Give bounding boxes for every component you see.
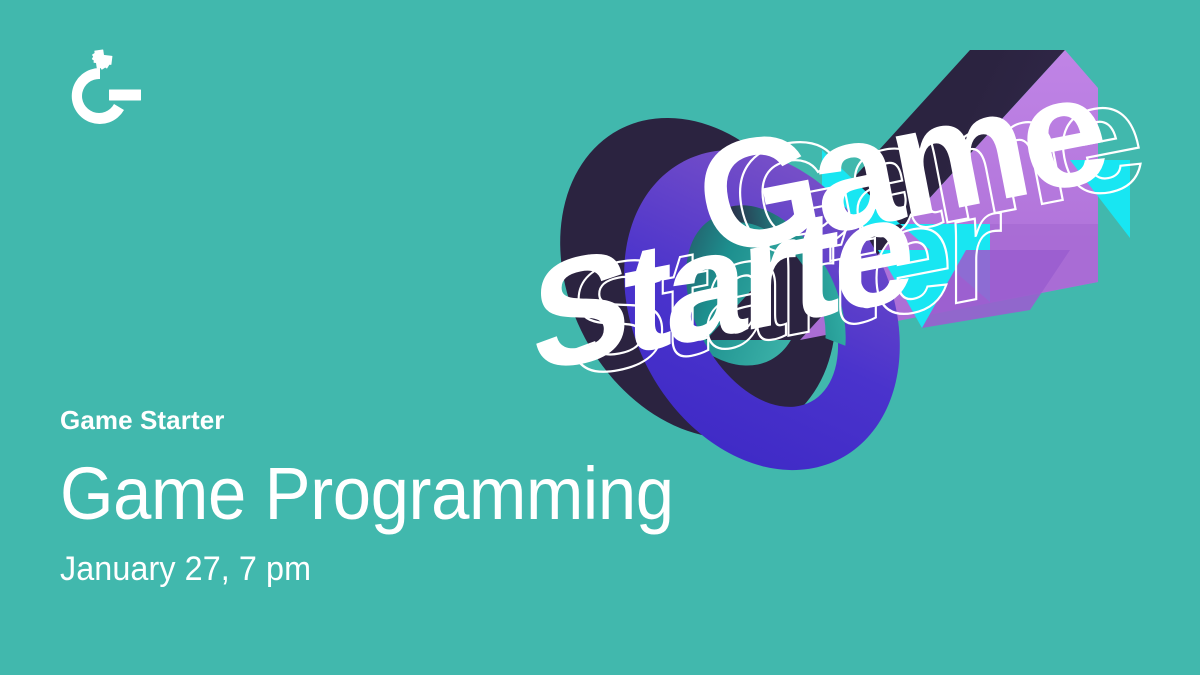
event-datetime: January 27, 7 pm [60,551,782,588]
event-poster: Game Game Starter Starter [0,0,1200,675]
event-text-block: Game Starter Game Programming January 27… [60,406,820,588]
c-spinner-logo-icon [52,48,148,144]
page-title: Game Programming [60,457,767,531]
series-name: Game Starter [60,406,820,435]
